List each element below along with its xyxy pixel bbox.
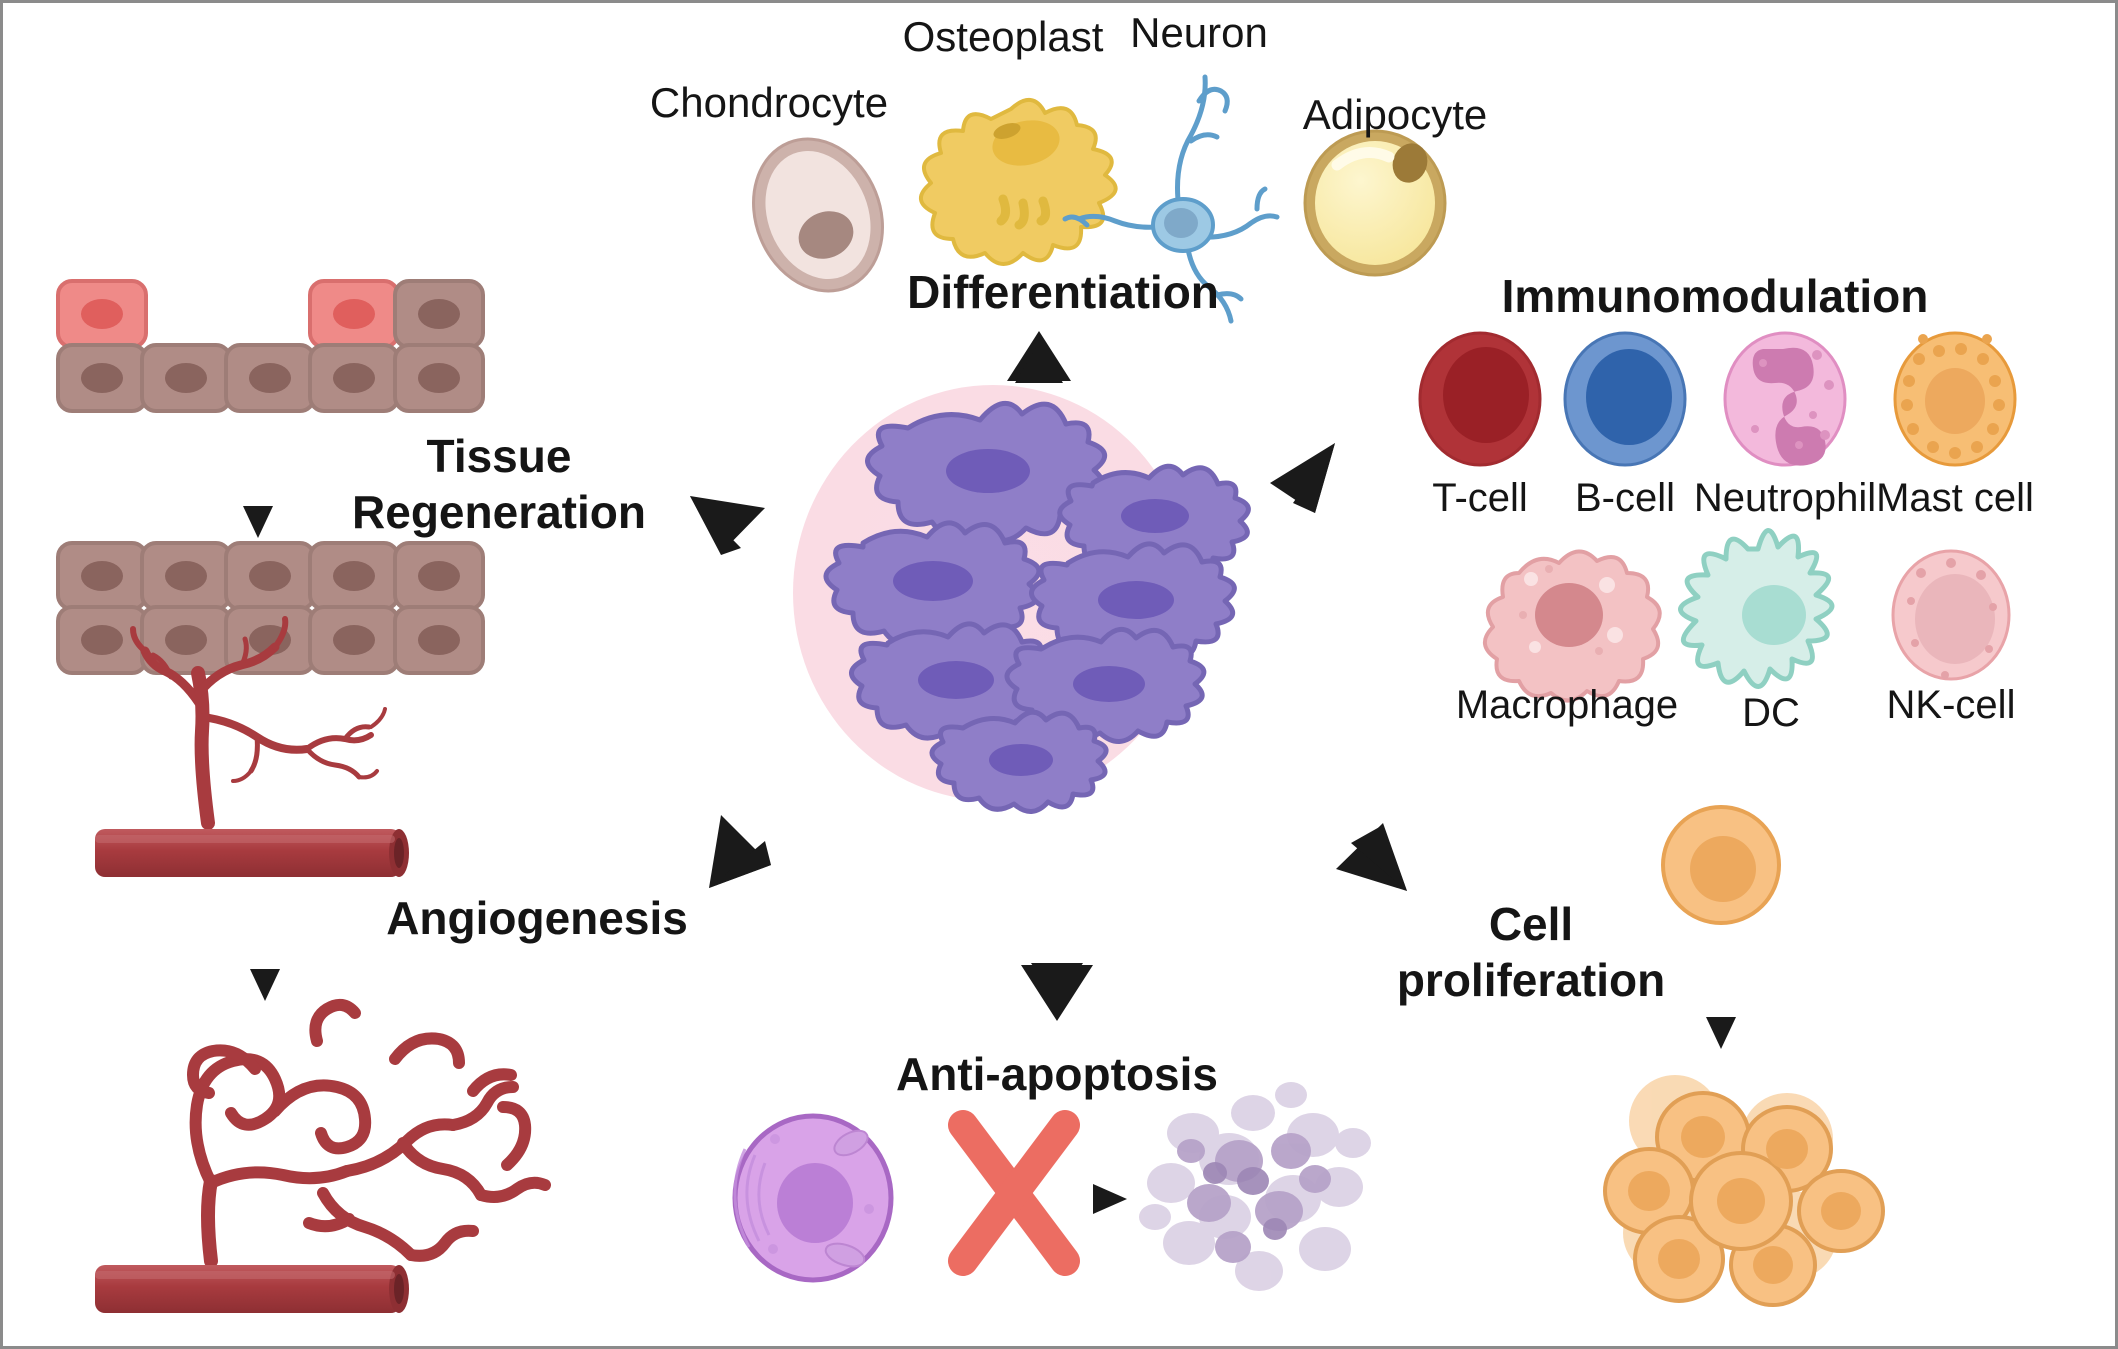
t-cell-icon [1420, 333, 1540, 465]
mast-cell-icon [1895, 333, 2015, 465]
adipocyte-icon [1305, 131, 1445, 275]
label-osteoplast: Osteoplast [903, 13, 1104, 60]
heading-differentiation: Differentiation [907, 267, 1219, 319]
label-mast-cell: Mast cell [1876, 476, 2034, 521]
heading-cell-proliferation-line2: proliferation [1397, 955, 1665, 1007]
label-nk-cell: NK-cell [1887, 683, 2016, 728]
macrophage-icon [1485, 551, 1660, 700]
arrow-to-cell-proliferation [1215, 703, 1407, 891]
diagram-vector-layer [3, 3, 2118, 1349]
arrow-to-immunomodulation [1216, 443, 1335, 550]
tissue-before-top-row [58, 281, 483, 347]
heading-cell-proliferation-line1: Cell [1489, 899, 1573, 951]
heading-angiogenesis: Angiogenesis [386, 893, 688, 945]
cell-proliferation-arrow [1706, 941, 1736, 1049]
label-neuron: Neuron [1130, 9, 1268, 56]
single-proliferating-cell-icon [1663, 807, 1779, 923]
osteoplast-icon [921, 100, 1116, 264]
cell-cluster-icon [1605, 1075, 1883, 1305]
heading-tissue-regeneration-line1: Tissue [427, 431, 572, 483]
center-msc-cluster [793, 385, 1248, 812]
angiogenesis-arrow [250, 898, 280, 1001]
tissue-regeneration-arrow [243, 435, 273, 538]
label-macrophage: Macrophage [1456, 683, 1678, 728]
label-chondrocyte: Chondrocyte [650, 79, 888, 126]
healthy-cell-icon [735, 1116, 891, 1280]
label-neutrophil: Neutrophil [1694, 476, 1876, 521]
tissue-after-row-2 [58, 607, 483, 673]
b-cell-icon [1565, 333, 1685, 465]
tissue-after-row-1 [58, 543, 483, 609]
heading-anti-apoptosis: Anti-apoptosis [896, 1049, 1218, 1101]
angiogenesis-before [95, 619, 409, 877]
neutrophil-icon [1725, 333, 1845, 466]
heading-tissue-regeneration-line2: Regeneration [352, 487, 646, 539]
arrow-to-differentiation [1007, 331, 1071, 469]
arrow-to-angiogenesis [709, 703, 818, 888]
red-cross-icon [963, 1125, 1065, 1261]
arrow-to-tissue-regeneration [690, 466, 803, 555]
chondrocyte-icon [731, 119, 904, 310]
arrow-to-anti-apoptosis [1021, 833, 1093, 1021]
tissue-before-bottom-row [58, 345, 483, 411]
label-t-cell: T-cell [1432, 476, 1528, 521]
dc-icon [1680, 530, 1832, 686]
heading-immunomodulation: Immunomodulation [1502, 271, 1929, 323]
figure-canvas: Chondrocyte Osteoplast Neuron Adipocyte … [0, 0, 2118, 1349]
label-adipocyte: Adipocyte [1303, 91, 1487, 138]
angiogenesis-after [95, 1005, 545, 1313]
label-dc: DC [1742, 691, 1800, 736]
apoptosis-arrow [913, 1184, 1127, 1214]
apoptotic-debris-icon [1139, 1082, 1371, 1291]
nk-cell-icon [1893, 551, 2009, 679]
label-b-cell: B-cell [1575, 476, 1675, 521]
